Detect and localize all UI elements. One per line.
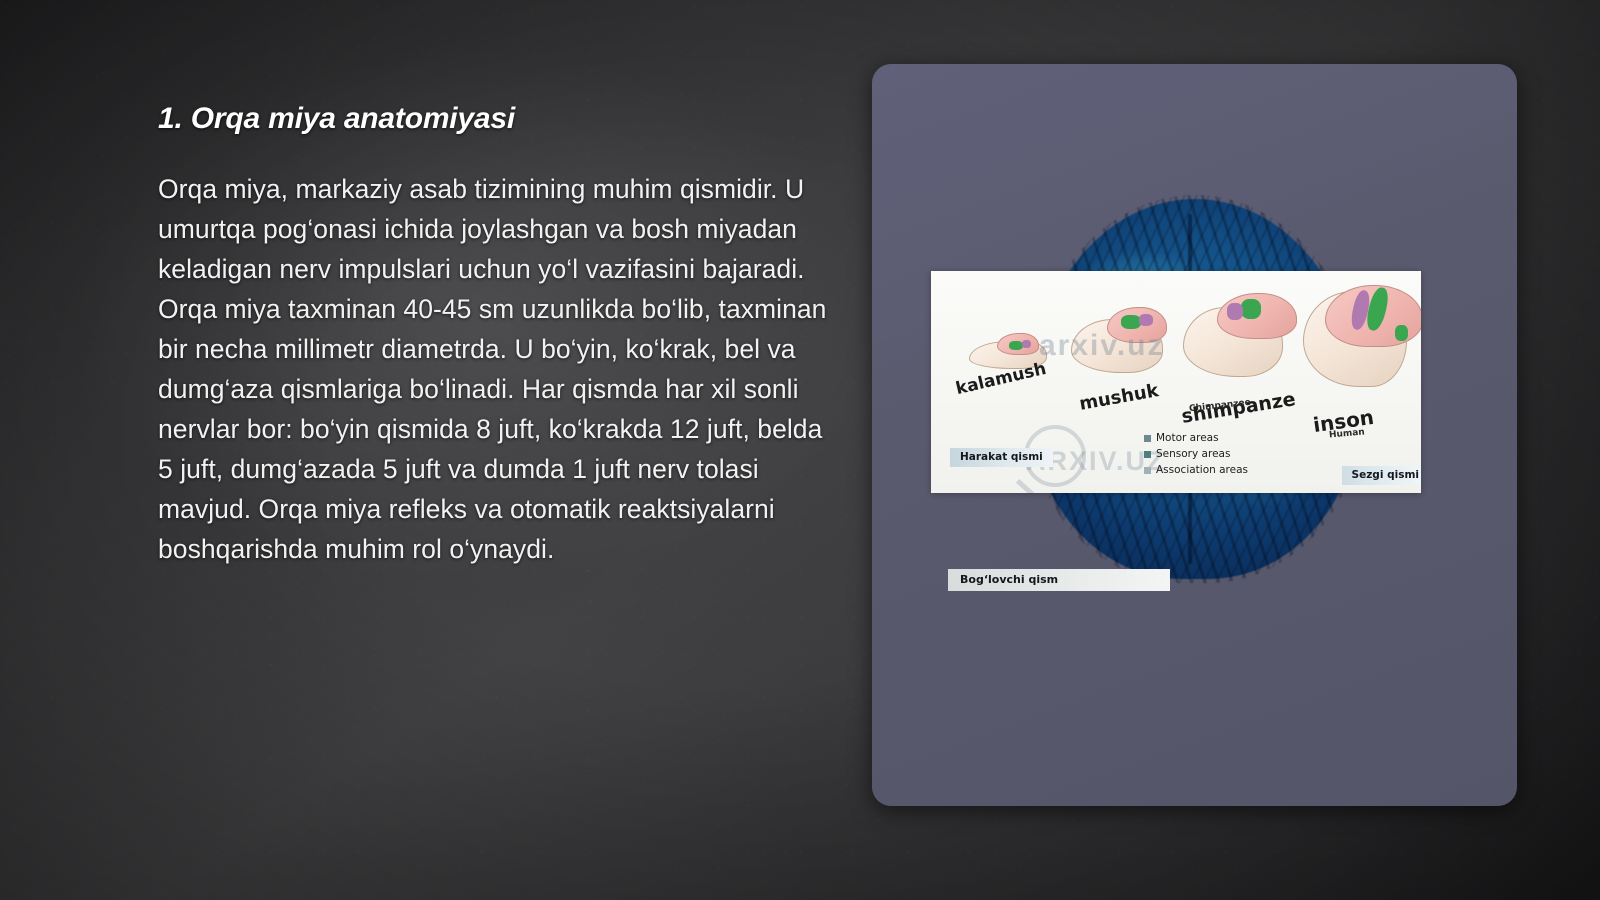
legend-swatch-motor <box>1144 435 1151 442</box>
legend-label-motor: Motor areas <box>1156 432 1219 444</box>
species-label-cat: mushuk <box>1078 380 1160 415</box>
legend-item-motor: Motor areas <box>1144 432 1248 444</box>
rat-motor-area <box>1009 341 1023 350</box>
figure-card: arxiv.uz ARXIV.UZ kalamush mushuk <box>931 271 1421 493</box>
chimp-motor-area <box>1241 299 1261 319</box>
legend-item-sensory: Sensory areas <box>1144 448 1248 460</box>
callout-sezgi-qismi: Sezgi qismi <box>1342 466 1421 485</box>
legend-item-association: Association areas <box>1144 464 1248 476</box>
chimp-sensory-area <box>1227 303 1243 320</box>
specimen-cat <box>1071 299 1181 379</box>
human-motor-area-secondary <box>1395 325 1408 341</box>
cat-motor-area <box>1121 315 1141 329</box>
legend-swatch-sensory <box>1144 451 1151 458</box>
rat-sensory-area <box>1022 340 1031 348</box>
legend-swatch-association <box>1144 467 1151 474</box>
figure-legend: Motor areas Sensory areas Association ar… <box>1144 432 1248 480</box>
callout-boglovchi-qism: Bog‘lovchi qism <box>948 569 1170 591</box>
species-sublabel-human: Human <box>1329 427 1366 440</box>
body-paragraph: Orqa miya, markaziy asab tizimining muhi… <box>158 169 830 569</box>
specimen-chimpanzee <box>1183 289 1313 384</box>
legend-label-association: Association areas <box>1156 464 1248 476</box>
cat-sensory-area <box>1139 314 1153 326</box>
callout-harakat-qismi: Harakat qismi <box>950 448 1053 467</box>
slide-root: 1. Orqa miya anatomiyasi Orqa miya, mark… <box>0 0 1600 900</box>
text-column: 1. Orqa miya anatomiyasi Orqa miya, mark… <box>158 102 830 569</box>
page-title: 1. Orqa miya anatomiyasi <box>158 102 830 136</box>
media-panel[interactable]: Miyaning rivojlanishi arxiv.uz ARXIV.UZ … <box>872 64 1517 806</box>
specimen-human <box>1303 277 1421 397</box>
legend-label-sensory: Sensory areas <box>1156 448 1230 460</box>
